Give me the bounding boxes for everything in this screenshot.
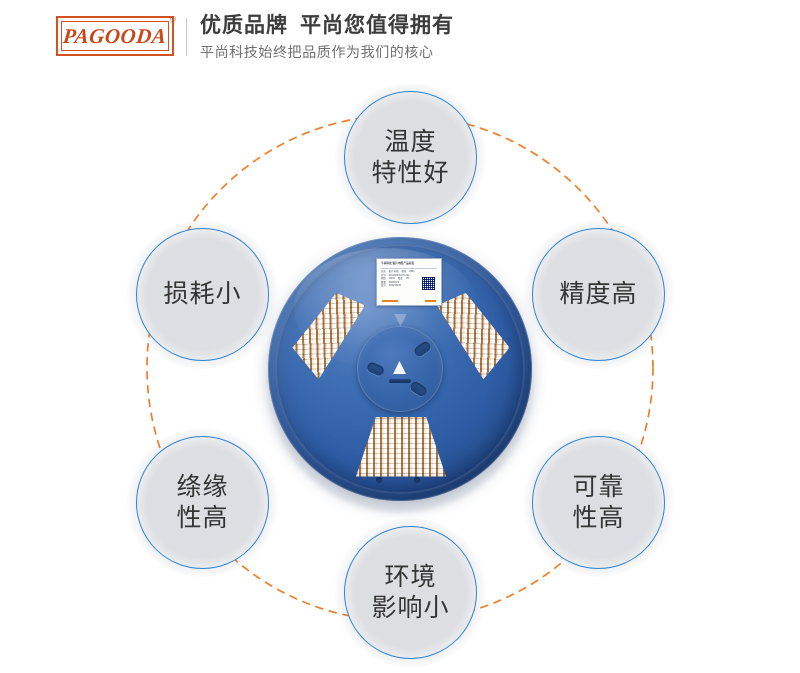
feature-bubble-label: 精度高 — [559, 279, 637, 310]
feature-bubble-label: 可靠 性高 — [572, 472, 624, 534]
product-feature-banner: PAGOODA ® 优质品牌平尚您值得拥有 平尚科技始终把品质作为我们的核心 — [0, 0, 800, 673]
label-barcode-bar — [382, 300, 398, 303]
feature-bubble-low-loss[interactable]: 损耗小 — [136, 228, 269, 361]
feature-bubble-label: 损耗小 — [163, 279, 241, 310]
logo-wordmark: PAGOODA — [62, 26, 168, 47]
page-title-part2: 平尚您值得拥有 — [300, 14, 454, 37]
page-header: PAGOODA ® 优质品牌平尚您值得拥有 平尚科技始终把品质作为我们的核心 — [0, 0, 800, 78]
reel-body: 平尚科技 贴片电阻产品标签 品名 贴片电阻 规格 0603 型号 RC0603F… — [268, 237, 532, 501]
reel-hub-slot — [409, 380, 429, 398]
reel-hub-slot — [366, 361, 386, 377]
reel-hub-center-tab — [393, 361, 406, 374]
feature-bubble-high-precision[interactable]: 精度高 — [532, 228, 665, 361]
label-field-value: 1% — [406, 277, 409, 281]
logo-frame-inner: PAGOODA ® — [61, 21, 169, 51]
page-title-part1: 优质品牌 — [200, 14, 288, 37]
feature-diagram: 平尚科技 贴片电阻产品标签 品名 贴片电阻 规格 0603 型号 RC0603F… — [0, 78, 800, 673]
feature-bubble-label: 绦缘 性高 — [176, 472, 228, 534]
reel-hub — [357, 326, 443, 412]
page-subtitle: 平尚科技始终把品质作为我们的核心 — [200, 42, 720, 62]
reel-vent-hole — [376, 477, 382, 483]
qr-code-icon — [421, 276, 436, 291]
reel-hub-slot — [413, 340, 433, 358]
product-image-reel: 平尚科技 贴片电阻产品标签 品名 贴片电阻 规格 0603 型号 RC0603F… — [252, 223, 548, 523]
product-label: 平尚科技 贴片电阻产品标签 品名 贴片电阻 规格 0603 型号 RC0603F… — [376, 258, 442, 306]
feature-bubble-label: 环境 影响小 — [371, 562, 449, 624]
feature-bubble-label: 温度 特性好 — [371, 127, 449, 189]
product-label-divider — [381, 268, 437, 269]
reel-vent-hole — [414, 477, 420, 483]
feature-bubble-insulation[interactable]: 绦缘 性高 — [136, 436, 269, 569]
label-field-value: P20230915 — [389, 284, 401, 288]
feature-bubble-temperature[interactable]: 温度 特性好 — [344, 91, 477, 224]
feature-bubble-reliability[interactable]: 可靠 性高 — [532, 436, 665, 569]
pagooda-logo: PAGOODA ® — [56, 16, 174, 56]
label-field-key: 批号 — [381, 284, 386, 288]
registered-trademark-icon: ® — [170, 15, 176, 24]
label-barcode-bar — [425, 300, 436, 303]
header-text-block: 优质品牌平尚您值得拥有 平尚科技始终把品质作为我们的核心 — [200, 12, 720, 62]
reel-hub-dash — [389, 379, 411, 383]
product-label-title: 平尚科技 贴片电阻产品标签 — [381, 262, 437, 266]
page-title: 优质品牌平尚您值得拥有 — [200, 12, 720, 40]
header-divider — [186, 18, 187, 56]
feature-bubble-environment[interactable]: 环境 影响小 — [344, 526, 477, 659]
